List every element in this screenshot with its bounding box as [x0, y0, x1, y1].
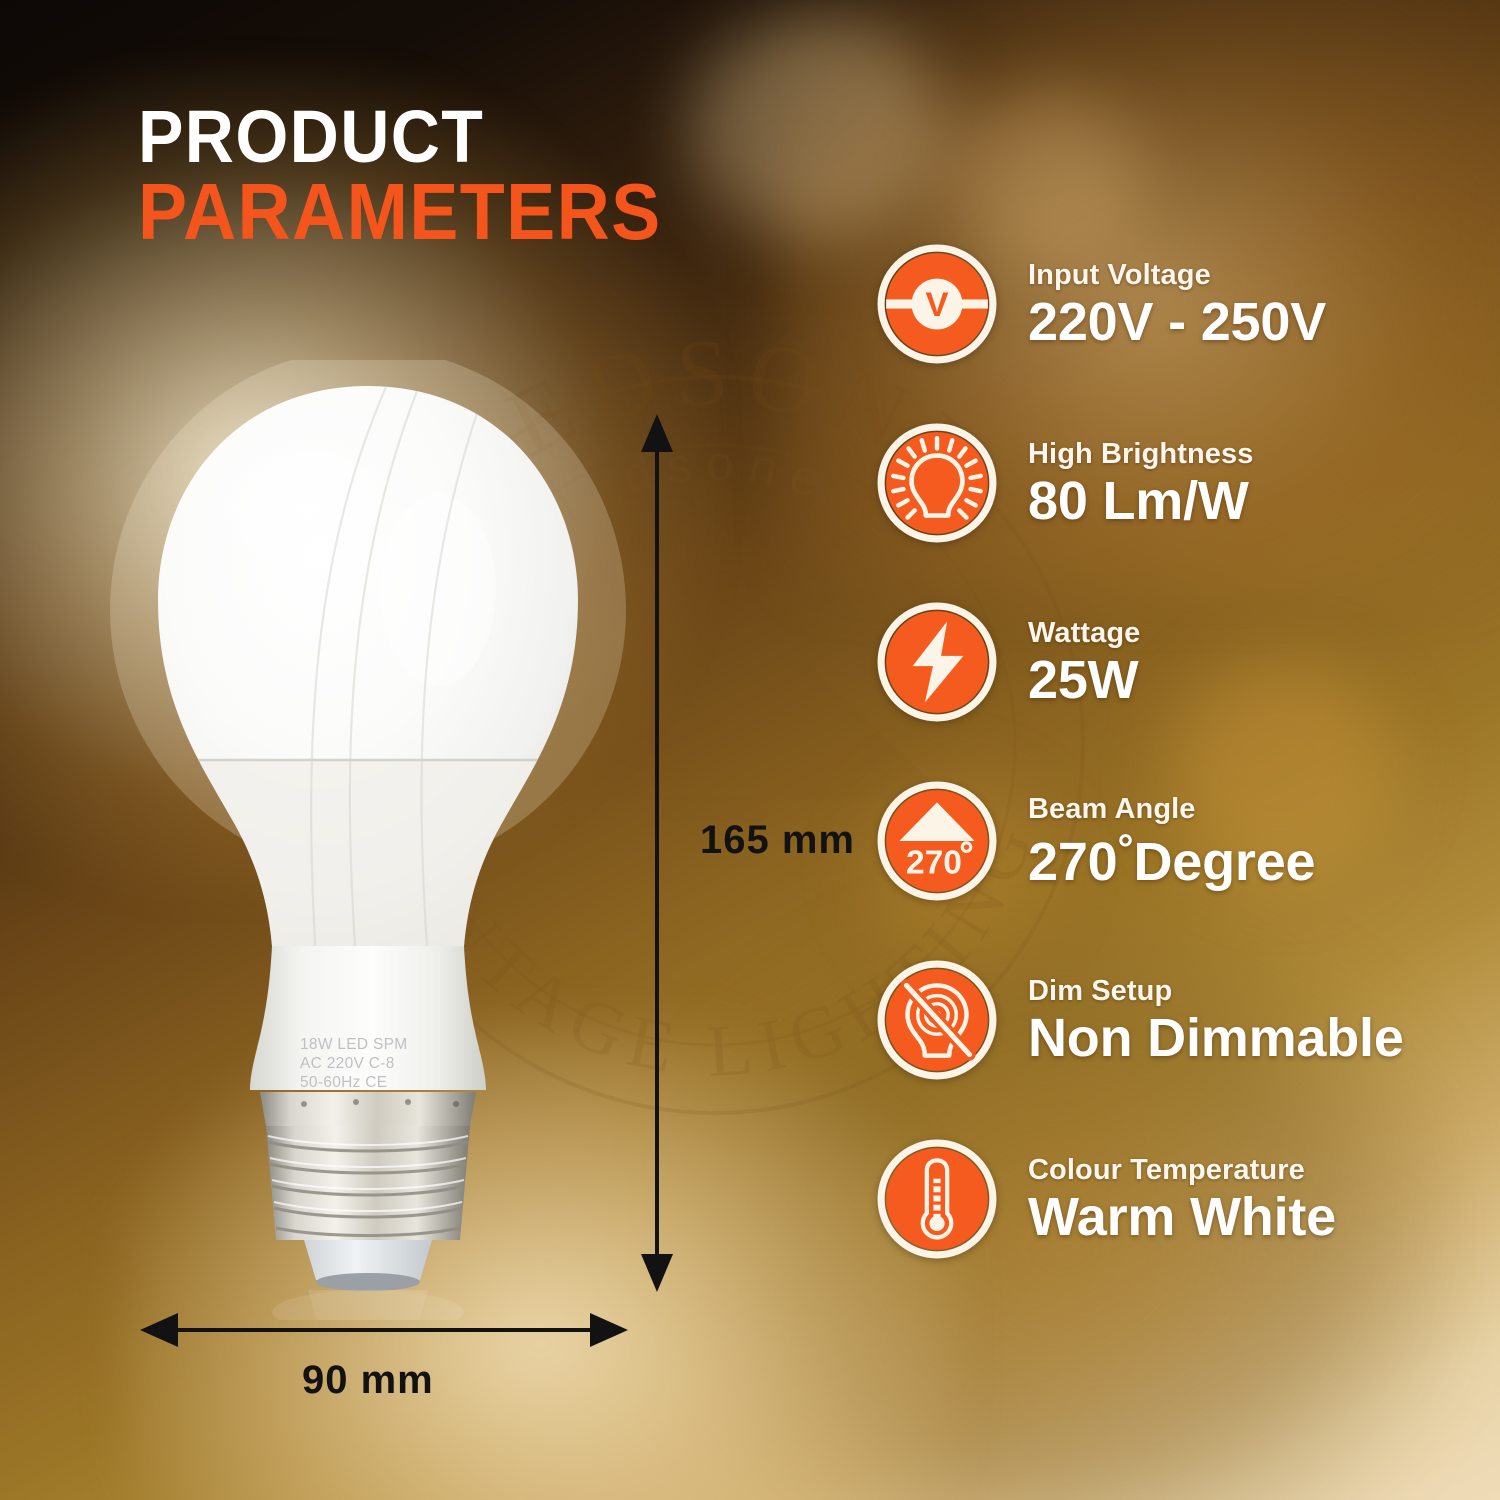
spec-text-dim-setup: Dim Setup Non Dimmable	[1028, 974, 1476, 1067]
title-line-product: PRODUCT	[138, 104, 662, 169]
brightness-bulb-icon	[876, 422, 998, 544]
title-line-parameters: PARAMETERS	[138, 177, 662, 247]
product-parameters-infographic: LEDSONE www.ledsone.co.uk VINTAGE LIGHTI…	[0, 0, 1500, 1500]
spec-row-input-voltage: V Input Voltage 220V - 250V	[876, 228, 1476, 380]
beam-angle-icon-text: 270	[906, 845, 962, 882]
spec-title: Beam Angle	[1028, 794, 1476, 824]
degree-symbol: °	[1118, 827, 1134, 871]
page-title: PRODUCT PARAMETERS	[138, 104, 707, 248]
bulb-printed-spec-label: 18W LED SPM AC 220V C-8 50-60Hz CE	[300, 1036, 430, 1093]
spec-row-colour-temperature: Colour Temperature Warm White	[876, 1123, 1476, 1275]
e27-screw-base	[266, 1126, 470, 1240]
led-bulb-image	[108, 360, 628, 1320]
spec-value: 220V - 250V	[1028, 295, 1476, 350]
spec-row-high-brightness: High Brightness 80 Lm/W	[876, 407, 1476, 559]
spec-title: Wattage	[1028, 618, 1476, 648]
spec-value: 80 Lm/W	[1028, 474, 1476, 529]
spec-value: 25W	[1028, 653, 1476, 708]
thermometer-icon	[876, 1138, 998, 1260]
lightning-bolt-icon	[876, 601, 998, 723]
spec-row-dim-setup: Dim Setup Non Dimmable	[876, 944, 1476, 1096]
beam-angle-unit: Degree	[1134, 832, 1316, 892]
spec-value: 270°Degree	[1028, 829, 1476, 890]
spec-text-beam-angle: Beam Angle 270°Degree	[1028, 792, 1476, 891]
spec-text-colour-temperature: Colour Temperature Warm White	[1028, 1153, 1476, 1246]
spec-value: Warm White	[1028, 1190, 1476, 1245]
beam-angle-icon: 270	[876, 780, 998, 902]
no-dimmer-icon	[876, 959, 998, 1081]
spec-row-wattage: Wattage 25W	[876, 586, 1476, 738]
spec-title: Colour Temperature	[1028, 1155, 1476, 1185]
width-dimension-label: 90 mm	[302, 1358, 434, 1403]
beam-angle-number: 270	[1028, 832, 1118, 892]
spec-text-input-voltage: Input Voltage 220V - 250V	[1028, 258, 1476, 351]
spec-text-wattage: Wattage 25W	[1028, 616, 1476, 709]
spec-value: Non Dimmable	[1028, 1011, 1476, 1066]
spec-list: V Input Voltage 220V - 250V	[876, 228, 1476, 1275]
spec-title: Dim Setup	[1028, 976, 1476, 1006]
spec-row-beam-angle: 270 Beam Angle 270°Degree	[876, 765, 1476, 917]
voltmeter-icon: V	[876, 243, 998, 365]
svg-text:V: V	[925, 286, 948, 324]
background-bokeh-1	[690, 15, 945, 240]
spec-text-high-brightness: High Brightness 80 Lm/W	[1028, 437, 1476, 530]
height-dimension-label: 165 mm	[700, 818, 855, 863]
spec-title: High Brightness	[1028, 439, 1476, 469]
spec-title: Input Voltage	[1028, 260, 1476, 290]
